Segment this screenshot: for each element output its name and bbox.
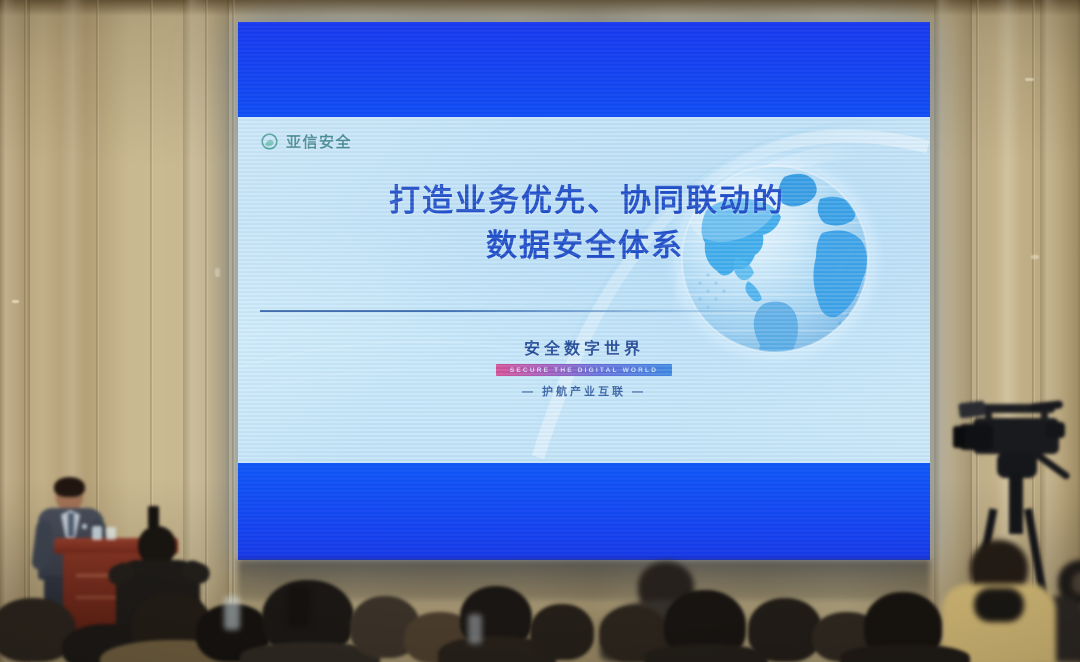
slide-subtitle-en-text: SECURE THE DIGITAL WORLD [510, 367, 658, 374]
camera-handle-post-b [1041, 410, 1048, 420]
audience-head [530, 604, 594, 660]
led-presentation-screen[interactable]: 亚信安全 打造业务优先、协同联动的 数据安全体系 安全数字世界 SECURE T… [238, 22, 930, 560]
thermos-flask [288, 586, 310, 626]
person-standing-phone [148, 506, 159, 528]
wall-speck-mid [215, 268, 220, 277]
slide-title-line-1: 打造业务优先、协同联动的 [238, 179, 930, 224]
slide-subtitle-cn: 安全数字世界 [238, 335, 930, 359]
tripod-pan-handle [1033, 450, 1071, 480]
slide-top-band [238, 22, 930, 117]
audience-head [748, 598, 822, 662]
water-bottle [224, 596, 240, 630]
audience-body [644, 644, 768, 662]
tripod-column [1009, 474, 1023, 534]
camera-lens-hood [953, 426, 965, 448]
water-bottle-right [468, 614, 482, 644]
slide-subtitle-block: 安全数字世界 SECURE THE DIGITAL WORLD — 护航产业互联… [238, 335, 930, 399]
slide-content-area: 亚信安全 打造业务优先、协同联动的 数据安全体系 安全数字世界 SECURE T… [238, 117, 930, 463]
presenter-tie [68, 513, 74, 537]
presenter-glasses [58, 491, 80, 496]
audience-member-yellow [940, 540, 1060, 662]
lectern-glass-1 [92, 526, 102, 540]
slide-bottom-band [238, 463, 930, 560]
slide-divider-rule [260, 310, 860, 312]
presenter-badge [82, 524, 87, 529]
audience-scarf [974, 588, 1024, 622]
camera-lcd-monitor [958, 400, 986, 418]
wall-speck-left [12, 300, 19, 303]
camera-viewfinder [1045, 422, 1065, 438]
audience-head [1072, 572, 1080, 594]
brand-logo: 亚信安全 [260, 131, 352, 152]
camera-microphone [1029, 400, 1064, 412]
audience-body [840, 644, 970, 662]
slide-subtitle-tagline: — 护航产业互联 — [238, 383, 930, 399]
wall-speck-right-2 [1031, 255, 1039, 259]
brand-logo-text: 亚信安全 [286, 131, 352, 152]
slide-title: 打造业务优先、协同联动的 数据安全体系 [238, 179, 930, 269]
slide-subtitle-en-bar: SECURE THE DIGITAL WORLD [496, 364, 672, 376]
conference-photo-scene: 亚信安全 打造业务优先、协同联动的 数据安全体系 安全数字世界 SECURE T… [0, 0, 1080, 662]
camera-handle-post-a [985, 410, 992, 420]
wall-speck-right [1025, 78, 1034, 81]
slide-title-line-2: 数据安全体系 [238, 224, 930, 269]
ring-circle-icon [260, 132, 279, 151]
